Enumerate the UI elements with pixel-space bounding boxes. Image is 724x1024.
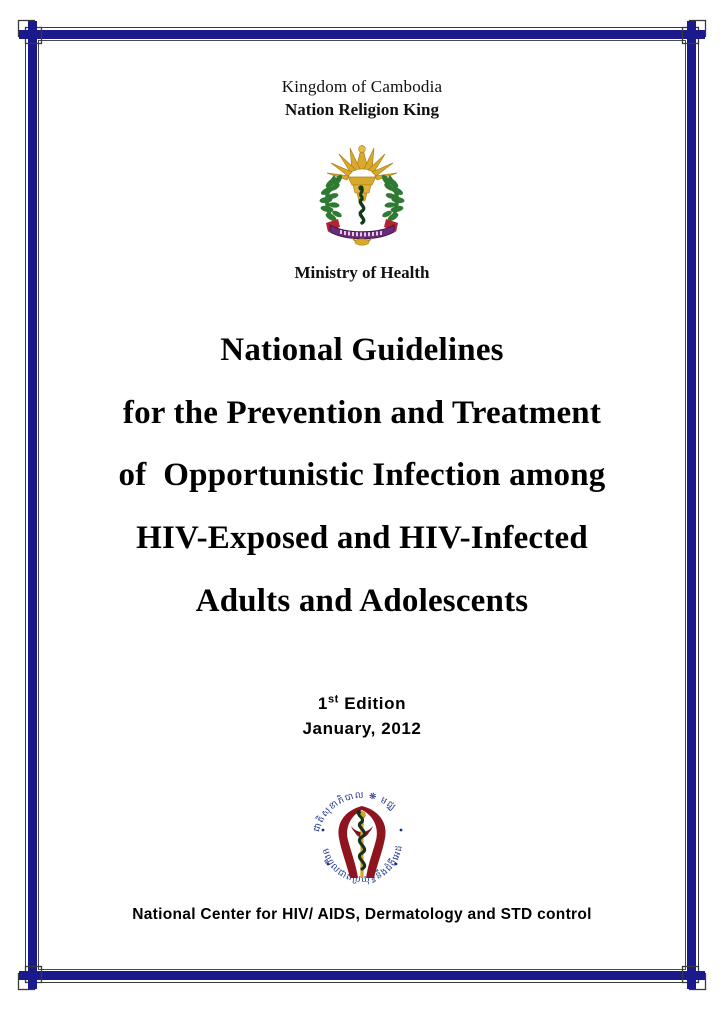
edition-block: 1st Edition January, 2012: [46, 692, 678, 741]
border-bar-bottom: [28, 971, 696, 980]
title-line-2: for the Prevention and Treatment: [46, 382, 678, 445]
border-bar-right: [687, 30, 696, 980]
nchads-logo: ជាតិសុខាភិបាល ❋ មជ្ឈ មណ្ឌលជាតិប្រយុទ្ធនឹ…: [46, 786, 678, 894]
nchads-aids-ribbon-logo-icon: ជាតិសុខាភិបាល ❋ មជ្ឈ មណ្ឌលជាតិប្រយុទ្ធនឹ…: [301, 786, 423, 894]
page-title: National Guidelines for the Prevention a…: [46, 319, 678, 632]
title-line-4: HIV-Exposed and HIV-Infected: [46, 507, 678, 570]
publication-date: January, 2012: [46, 717, 678, 742]
national-motto-text: Nation Religion King: [46, 99, 678, 121]
border-bar-left: [28, 30, 37, 980]
corner-knot-top-right-icon: [673, 19, 707, 53]
organisation-footer-text: National Center for HIV/ AIDS, Dermatolo…: [46, 906, 678, 924]
corner-knot-bottom-right-icon: [673, 957, 707, 991]
ministry-of-health-text: Ministry of Health: [46, 263, 678, 283]
corner-knot-bottom-left-icon: [17, 957, 51, 991]
border-bar-top: [28, 30, 696, 39]
edition-number: 1: [318, 694, 328, 713]
document-cover-page: Kingdom of Cambodia Nation Religion King: [0, 0, 724, 1024]
ministry-of-health-emblem-icon: [300, 139, 424, 249]
edition-ordinal-suffix: st: [328, 694, 339, 706]
ministry-emblem: [46, 139, 678, 249]
edition-label: Edition: [339, 694, 406, 713]
cover-content: Kingdom of Cambodia Nation Religion King: [46, 46, 678, 924]
edition-line: 1st Edition: [46, 692, 678, 717]
title-line-5: Adults and Adolescents: [46, 570, 678, 633]
kingdom-of-cambodia-text: Kingdom of Cambodia: [46, 76, 678, 99]
title-line-3: of Opportunistic Infection among: [46, 444, 678, 507]
title-line-1: National Guidelines: [46, 319, 678, 382]
